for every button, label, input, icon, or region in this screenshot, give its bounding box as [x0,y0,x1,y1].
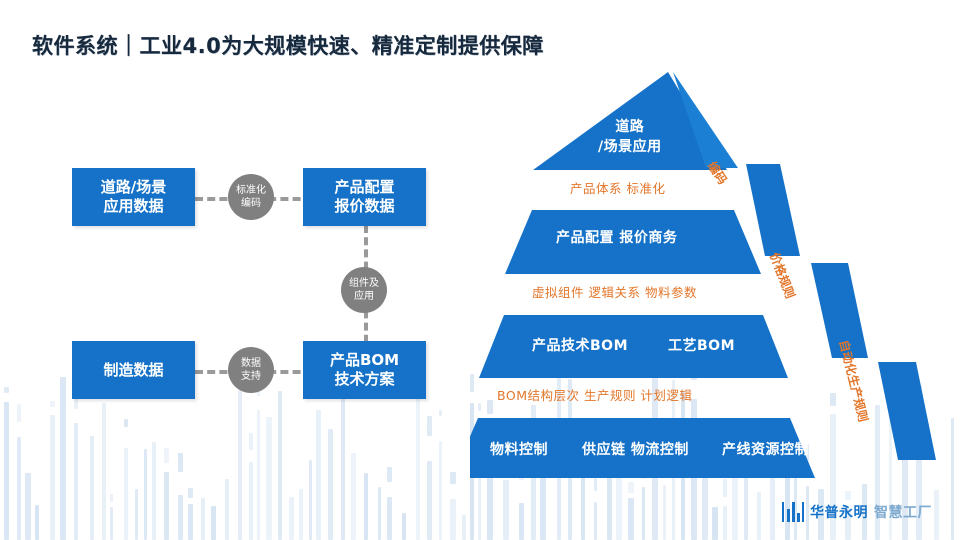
connector-line2: 应用 [354,290,374,303]
connector-line1: 标准化 [236,184,266,197]
connector-line2: 支持 [241,370,261,383]
connector-line1: 数据 [241,357,261,370]
pyramid-tier4-label-c: 产线资源控制 [722,439,809,459]
connector-line1: 组件及 [349,277,379,290]
flow-box-manufacturing-data[interactable]: 制造数据 [72,341,195,399]
page-title: 软件系统｜工业4.0为大规模快速、精准定制提供保障 [32,30,544,60]
connector-line2: 编码 [241,197,261,210]
pyramid-tier2-wing [746,164,800,256]
pyramid-shapes [470,60,960,490]
pyramid-tier3-front[interactable] [479,315,788,378]
pyramid-tier4-label-a: 物料控制 [490,439,548,459]
flow-box-line1: 制造数据 [103,361,163,380]
logo-mark-icon [782,502,804,522]
flow-box-line1: 产品配置 [334,178,394,197]
flow-box-line2: 应用数据 [101,197,166,216]
logo-company-name: 华普永明 [810,502,868,522]
pyramid-apex-sublabel: 产品体系 标准化 [570,178,665,197]
flow-box-product-bom-tech[interactable]: 产品BOM 技术方案 [303,341,426,399]
pyramid-apex-label: 道路 /场景应用 [598,116,662,156]
flow-box-line2: 报价数据 [334,197,394,216]
apex-line1: 道路 [598,116,662,136]
flow-connector-standardization-coding[interactable]: 标准化 编码 [228,174,274,220]
flow-connector-data-support[interactable]: 数据 支持 [228,347,274,393]
pyramid-tier4-wing [878,362,936,460]
flow-box-line2: 技术方案 [330,370,399,389]
logo-tagline: 智慧工厂 [874,502,932,522]
flow-box-line1: 产品BOM [330,351,399,370]
pyramid-tier2-sublabel: 虚拟组件 逻辑关系 物料参数 [532,282,697,301]
apex-line2: /场景应用 [598,136,662,156]
slide-canvas: 软件系统｜工业4.0为大规模快速、精准定制提供保障 道路/场景 应用数据 产品配… [0,0,960,540]
brand-logo: 华普永明 智慧工厂 [782,502,932,522]
flow-box-road-scene-data[interactable]: 道路/场景 应用数据 [72,168,195,226]
pyramid-tier3-sublabel: BOM结构层次 生产规则 计划逻辑 [497,385,692,404]
pyramid-tier4-label-b: 供应链 物流控制 [582,439,689,459]
pyramid-tier3-label-b: 工艺BOM [668,335,735,355]
flow-box-product-config-quote-data[interactable]: 产品配置 报价数据 [303,168,426,226]
data-flow-diagram: 道路/场景 应用数据 产品配置 报价数据 制造数据 产品BOM 技术方案 标准化… [0,0,470,540]
capability-pyramid: 道路 /场景应用 产品体系 标准化 产品配置 报价商务 虚拟组件 逻辑关系 物料… [470,60,960,490]
pyramid-tier3-label-a: 产品技术BOM [532,335,628,355]
flow-box-line1: 道路/场景 [101,178,166,197]
page-title-text: 软件系统｜工业4.0为大规模快速、精准定制提供保障 [32,30,544,60]
flow-connector-component-application[interactable]: 组件及 应用 [341,267,387,313]
pyramid-tier2-label: 产品配置 报价商务 [556,227,677,247]
